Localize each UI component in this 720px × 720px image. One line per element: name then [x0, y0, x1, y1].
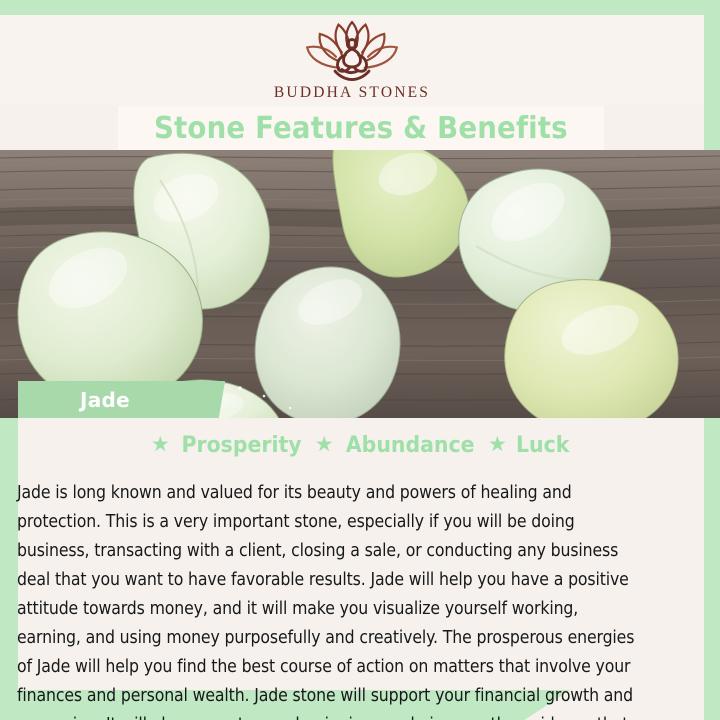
- keyword-prosperity: ★ Prosperity: [151, 433, 306, 458]
- brand-logo: BUDDHA STONES: [0, 15, 704, 102]
- title-banner: Stone Features & Benefits: [118, 106, 604, 150]
- keyword-list: ★ Prosperity ★ Abundance ★ Luck: [18, 430, 704, 460]
- page-title: Stone Features & Benefits: [154, 111, 568, 146]
- stone-description: Jade is long known and valued for its be…: [17, 479, 641, 720]
- keyword-label: Abundance: [345, 433, 474, 458]
- star-icon: ★: [151, 434, 170, 455]
- hero-image: [0, 150, 720, 418]
- keyword-abundance: ★ Abundance: [315, 433, 479, 458]
- product-info-card: BUDDHA STONES Stone Features & Benefits: [0, 0, 720, 720]
- header: BUDDHA STONES: [0, 15, 704, 105]
- keyword-label: Prosperity: [181, 433, 301, 458]
- lotus-meditation-icon: [300, 17, 404, 83]
- stone-name: Jade: [80, 388, 130, 412]
- decor-band-top: [0, 0, 720, 15]
- brand-name: BUDDHA STONES: [274, 84, 430, 102]
- star-icon: ★: [488, 434, 507, 455]
- star-icon: ★: [315, 434, 334, 455]
- stone-name-bar: Jade: [18, 381, 225, 418]
- keyword-label: Luck: [516, 433, 569, 458]
- keyword-luck: ★ Luck: [488, 433, 571, 458]
